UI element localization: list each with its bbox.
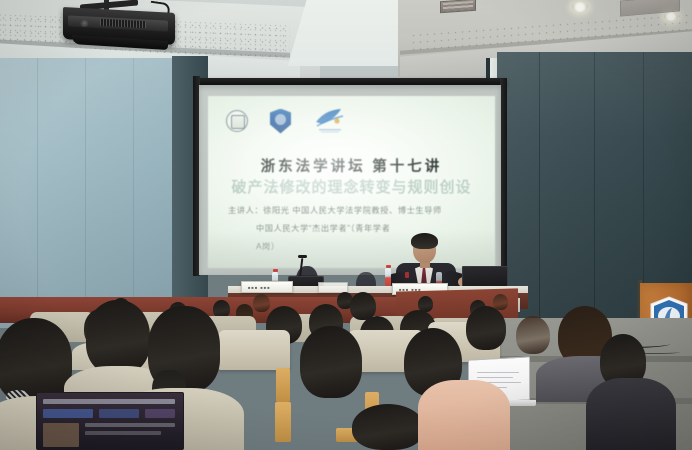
laptop-content-row <box>43 423 79 447</box>
gooseneck-microphone-head <box>298 255 307 258</box>
presenter-lapel-badge <box>405 272 409 278</box>
audience-head <box>516 316 550 354</box>
laptop-content-row <box>85 431 161 435</box>
laptop-content-row <box>43 409 93 418</box>
water-bottle-cap <box>273 269 278 272</box>
audience-shoulders <box>418 380 510 450</box>
presenter-hair <box>411 233 438 249</box>
slide-speaker-line-1: 主讲人：徐阳光 中国人民大学法学院教授、博士生导师 <box>228 204 442 216</box>
projector-lens <box>80 19 89 27</box>
slide-logo-row <box>226 108 347 134</box>
audience-head <box>352 404 424 450</box>
audience-head <box>86 300 150 374</box>
recessed-ceiling-light <box>572 2 588 12</box>
audience-head <box>253 294 270 312</box>
audience-head <box>350 292 376 320</box>
lecture-seat <box>218 330 290 370</box>
slide-title: 浙东法学讲坛 第十七讲 <box>208 155 495 176</box>
lecture-hall-photo: 浙东法学讲坛 第十七讲 破产法修改的理念转变与规则创设 主讲人：徐阳光 中国人民… <box>0 0 692 450</box>
audience-head <box>0 318 72 402</box>
seat-armrest <box>276 368 290 402</box>
audience-shoulders <box>586 378 676 450</box>
laptop-content-row <box>99 409 139 418</box>
laptop-content-row <box>43 399 175 404</box>
slide-subtitle: 破产法修改的理念转变与规则创设 <box>208 176 495 197</box>
seat-armrest <box>275 402 291 442</box>
laptop-content-row <box>145 409 175 418</box>
water-bottle-cap <box>386 265 391 268</box>
audience-laptop-screen <box>36 392 184 450</box>
university-seal-logo-icon <box>226 110 248 132</box>
forum-wave-logo-icon <box>313 108 347 134</box>
audience-head <box>300 326 362 398</box>
projection-screen-frame-right <box>500 78 507 274</box>
laptop-content-row <box>85 423 175 427</box>
water-bottle <box>385 268 391 286</box>
law-school-shield-logo-icon <box>270 109 291 134</box>
recessed-ceiling-light <box>664 12 678 21</box>
name-card-text: ■■■ ■■■ <box>248 285 271 290</box>
audience-head <box>466 306 506 350</box>
